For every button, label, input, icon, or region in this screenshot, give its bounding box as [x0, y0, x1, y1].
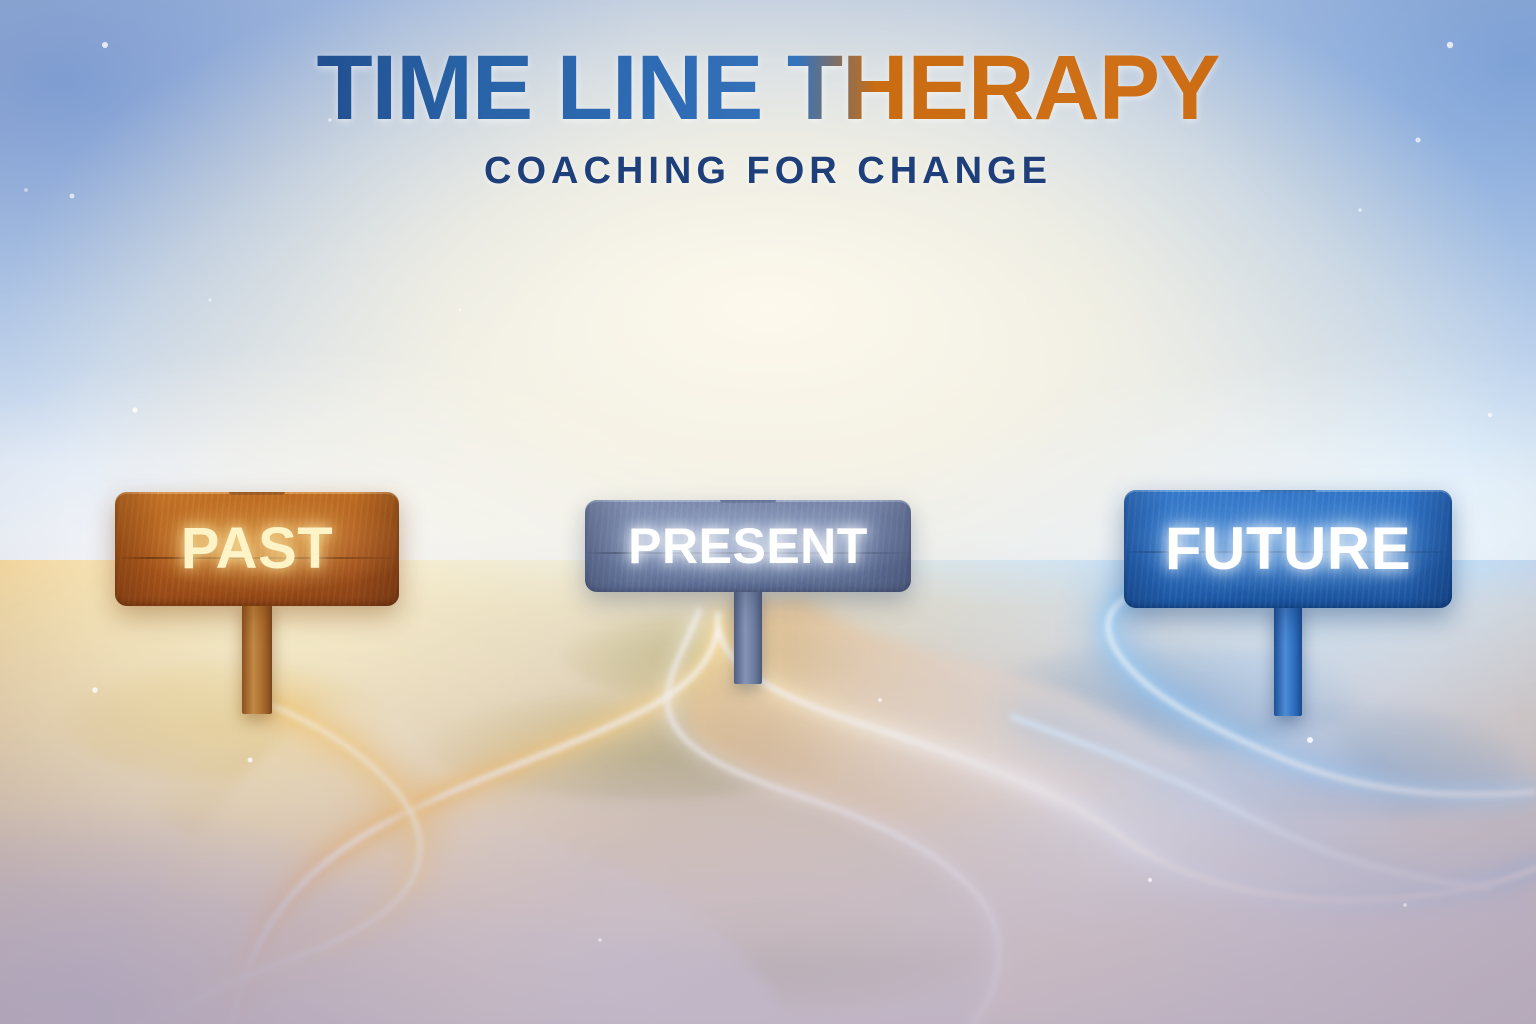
signpost-present-top-tab: [720, 500, 776, 503]
signpost-present[interactable]: PRESENT: [585, 500, 911, 592]
signpost-past[interactable]: PAST: [115, 492, 399, 606]
signpost-past-label: PAST: [181, 520, 333, 578]
signpost-present-label: PRESENT: [628, 521, 868, 571]
signpost-future-top-tab: [1260, 490, 1316, 493]
signpost-future-board: FUTURE: [1124, 490, 1452, 608]
page-title: TIME LINE THERAPY: [0, 42, 1536, 134]
timeline-therapy-banner: PAST PRESENT FUTURE TIME LINE THERAPY CO…: [0, 0, 1536, 1024]
signpost-future[interactable]: FUTURE: [1124, 490, 1452, 608]
signpost-future-post: [1274, 604, 1302, 716]
page-subtitle: COACHING FOR CHANGE: [0, 150, 1536, 193]
signpost-present-post: [734, 588, 762, 684]
signpost-past-post: [242, 602, 272, 714]
signpost-past-top-tab: [229, 492, 285, 495]
signpost-future-label: FUTURE: [1165, 519, 1411, 579]
signpost-present-board: PRESENT: [585, 500, 911, 592]
signpost-past-board: PAST: [115, 492, 399, 606]
title-block: TIME LINE THERAPY COACHING FOR CHANGE: [0, 42, 1536, 193]
